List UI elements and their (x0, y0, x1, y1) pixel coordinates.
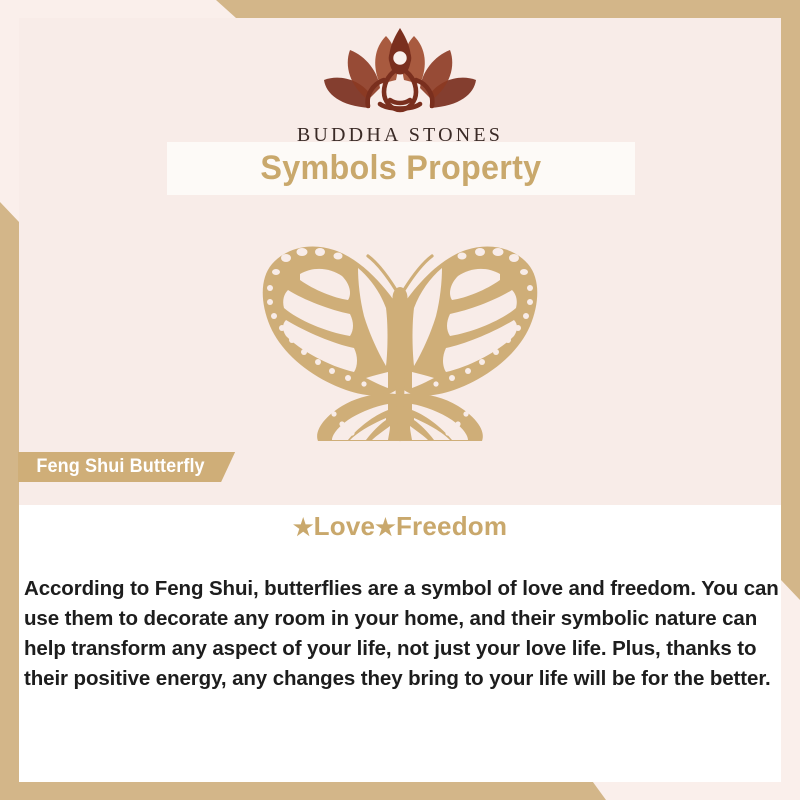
love-freedom-headline: ★Love★Freedom (0, 511, 800, 542)
top-tan-accent-bar (0, 0, 800, 18)
lotus-meditation-icon (310, 22, 490, 122)
butterfly-illustration (0, 228, 800, 448)
brand-logo: BUDDHA STONES (0, 22, 800, 147)
butterfly-icon (230, 228, 570, 443)
title-band: Symbols Property (167, 142, 635, 195)
promo-infographic-page: BUDDHA STONES Symbols Property (0, 0, 800, 800)
description-paragraph: According to Feng Shui, butterflies are … (24, 574, 784, 694)
page-title: Symbols Property (261, 149, 542, 188)
banner-label: Feng Shui Butterfly (36, 456, 204, 478)
headline-word-freedom: Freedom (396, 511, 507, 541)
star-icon-middle: ★ (375, 514, 396, 540)
star-icon-left: ★ (293, 514, 314, 540)
feng-shui-butterfly-banner: Feng Shui Butterfly (18, 452, 235, 482)
headline-word-love: Love (314, 511, 375, 541)
